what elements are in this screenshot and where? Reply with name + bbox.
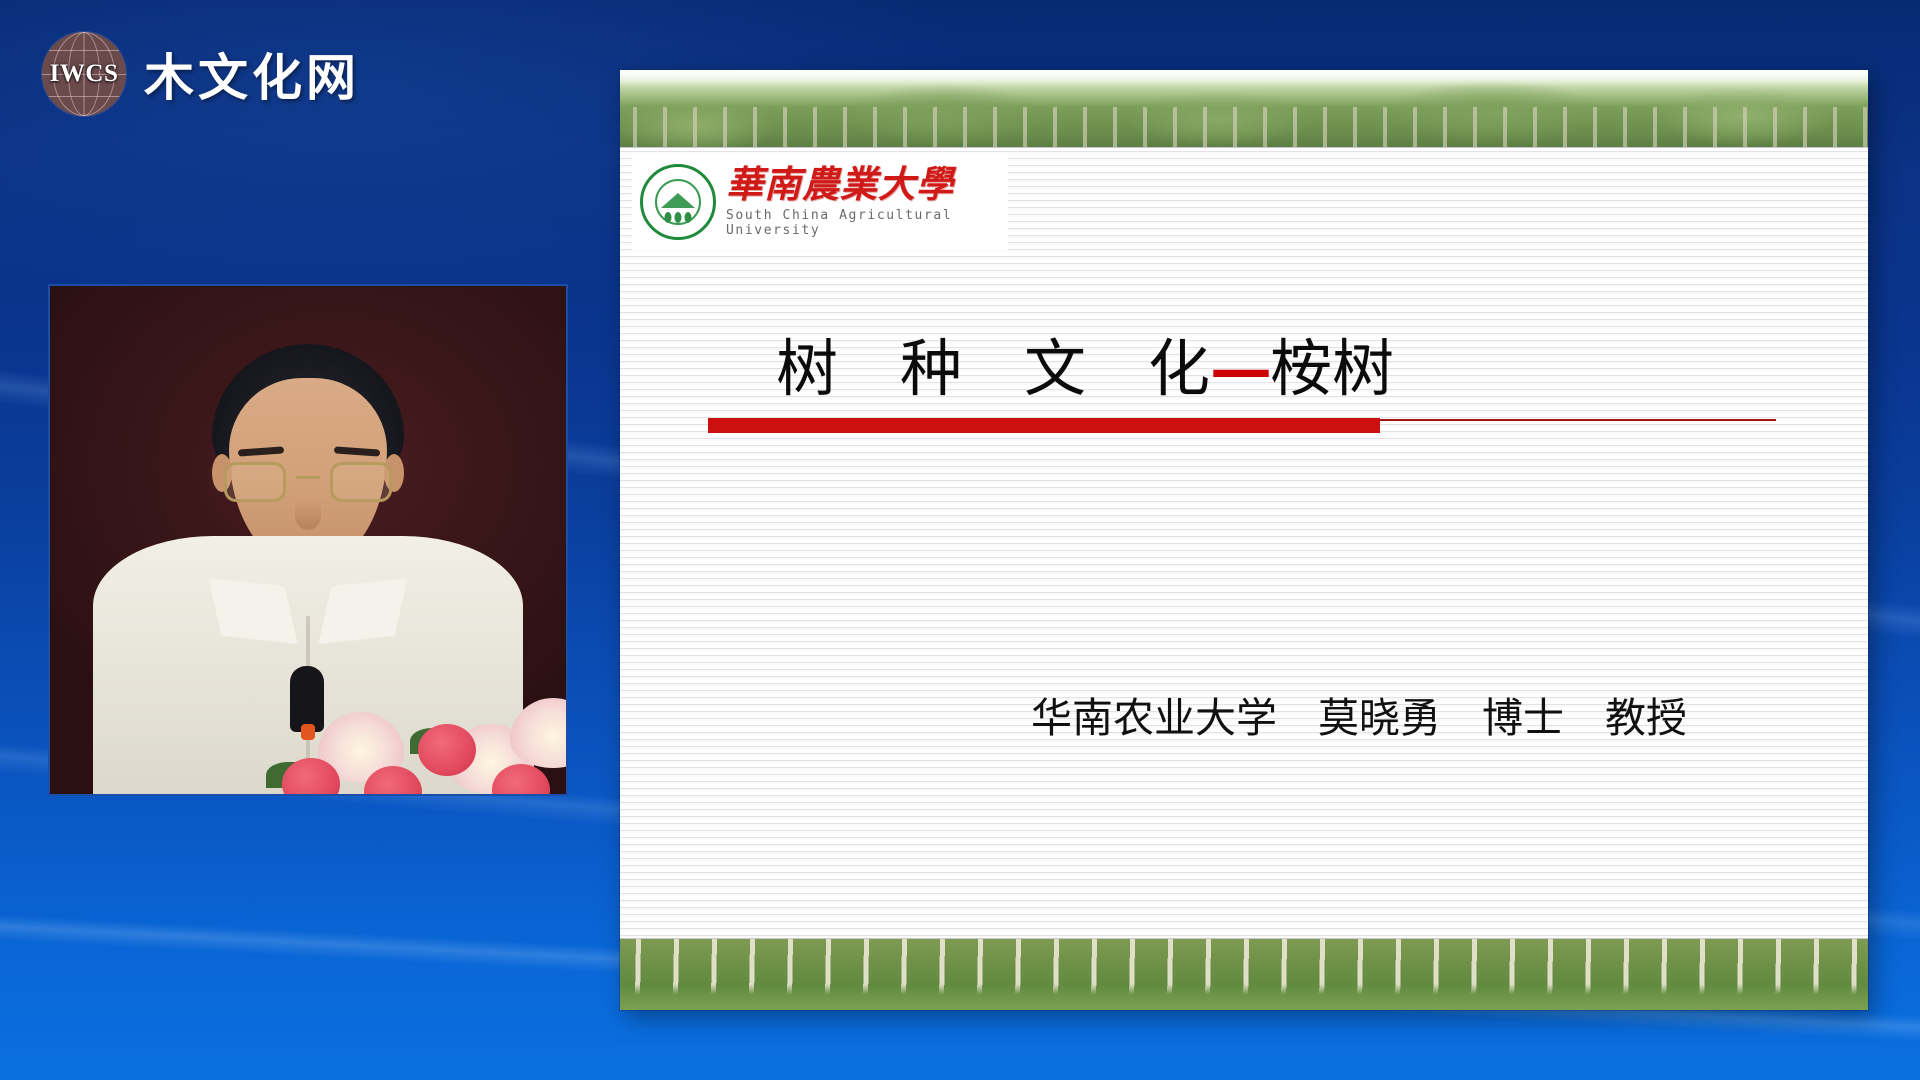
bouquet-lily: [510, 698, 568, 768]
university-logo: 華南農業大學 South China Agricultural Universi…: [632, 154, 1008, 250]
banner-top-forest-image: [620, 70, 1868, 148]
university-name-cn: 華南農業大學: [726, 166, 1000, 203]
shirt-collar-right: [319, 578, 408, 643]
title-underline-thin: [1380, 419, 1776, 421]
glasses-bridge: [296, 476, 320, 479]
brand-logo: IWCS 木文化网: [42, 32, 360, 116]
slide-title-block: 树 种 文 化—桉树: [620, 338, 1868, 400]
presentation-slide: 華南農業大學 South China Agricultural Universi…: [620, 70, 1868, 1010]
title-underline: [620, 414, 1868, 434]
banner-bottom-forest-image: [620, 938, 1868, 1010]
presenter-line: 华南农业大学 莫晓勇 博士 教授: [620, 684, 1868, 744]
page-title: 树 种 文 化—桉树: [620, 338, 1868, 400]
title-main-text: 树 种 文 化: [776, 332, 1210, 405]
title-suffix-text: 桉树: [1270, 332, 1394, 405]
glasses-lens-left: [224, 462, 286, 502]
title-dash: —: [1210, 332, 1270, 405]
shirt-collar-left: [209, 578, 298, 643]
banner-bottom-grass: [620, 984, 1868, 1010]
university-emblem-icon: [640, 164, 716, 240]
title-underline-thick: [708, 418, 1380, 433]
globe-icon: IWCS: [42, 32, 126, 116]
speaker-nose: [295, 500, 321, 530]
iwcs-wordmark: IWCS: [42, 32, 126, 116]
banner-top-trunks: [620, 107, 1868, 147]
bouquet-rose: [418, 724, 476, 776]
site-name-label: 木文化网: [144, 38, 360, 110]
emblem-seeds: [665, 212, 692, 223]
emblem-roof-shape: [661, 193, 695, 208]
glasses-icon: [222, 462, 394, 504]
university-name-en: South China Agricultural University: [726, 208, 1000, 238]
glasses-lens-right: [330, 462, 392, 502]
speaker-photo: [48, 284, 568, 796]
flower-bouquet: [260, 682, 568, 796]
university-name-block: 華南農業大學 South China Agricultural Universi…: [726, 166, 1000, 238]
